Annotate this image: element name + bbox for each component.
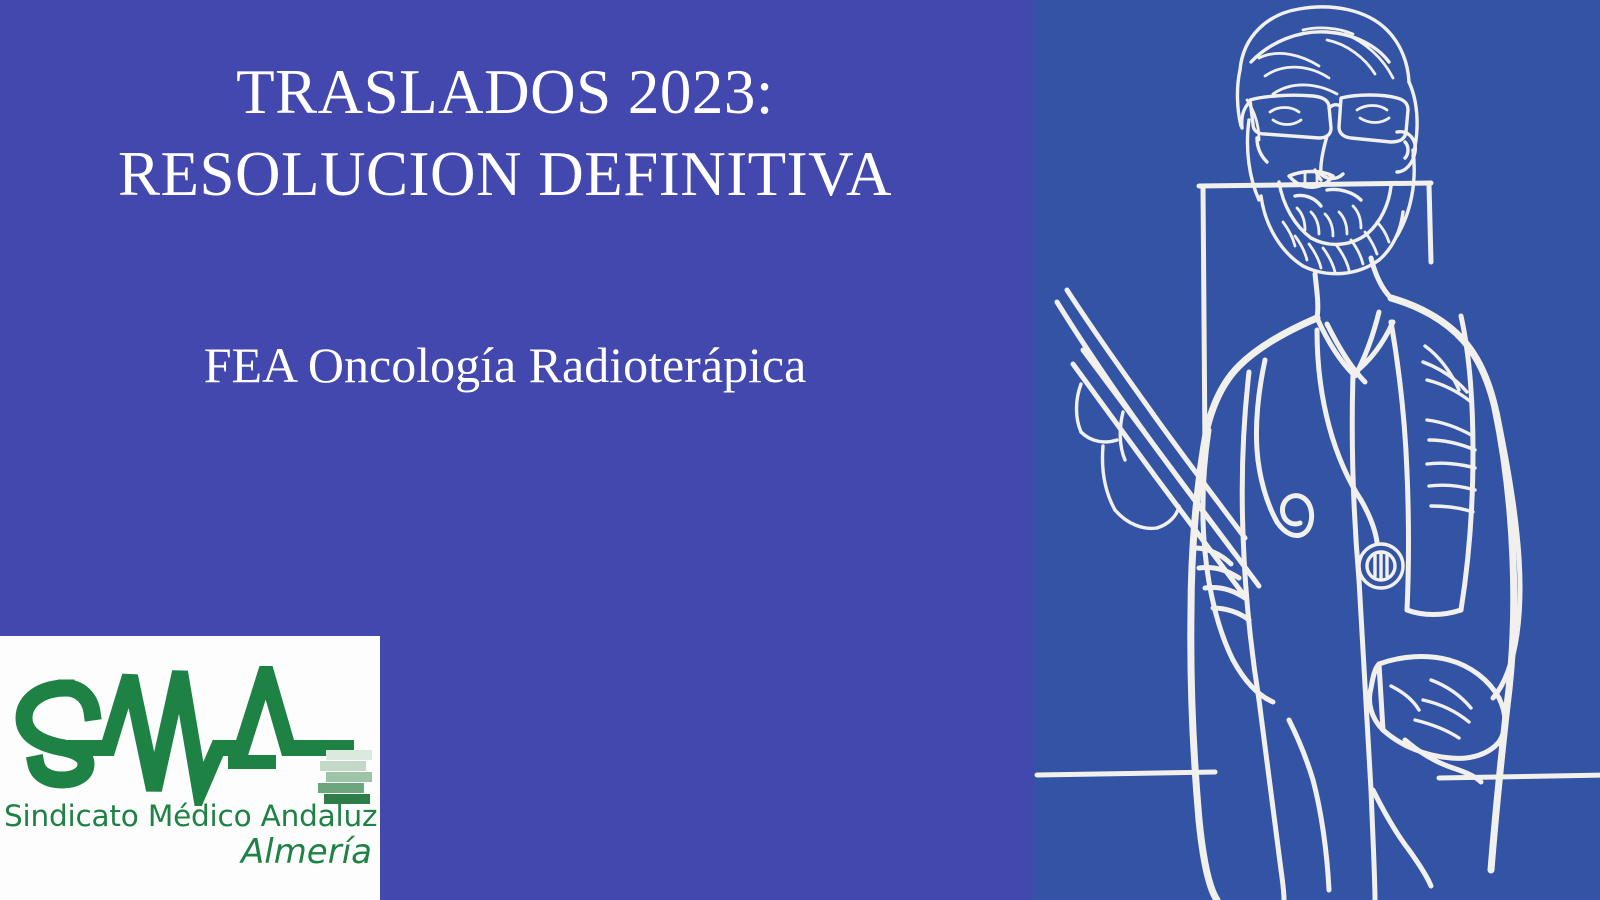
doctor-line-art-illustration xyxy=(1033,0,1600,900)
clipboard xyxy=(1057,290,1259,594)
logo-organization-name: Sindicato Médico Andaluz xyxy=(4,799,376,833)
right-illustration-panel xyxy=(1033,0,1600,900)
stacked-pages-icon xyxy=(318,750,372,804)
presentation-slide: TRASLADOS 2023: RESOLUCION DEFINITIVA FE… xyxy=(0,0,1600,900)
sma-logo: Sindicato Médico Andaluz Almería xyxy=(0,636,380,900)
slide-subtitle: FEA Oncología Radioterápica xyxy=(0,335,1010,395)
stethoscope-chestpiece xyxy=(1359,544,1403,588)
sma-logo-card: Sindicato Médico Andaluz Almería xyxy=(0,636,380,900)
neck-and-shoulders xyxy=(1315,258,1391,318)
sma-ecg-logo-icon xyxy=(4,666,376,806)
title-line-1: TRASLADOS 2023: xyxy=(20,52,990,134)
open-palm-hand xyxy=(1370,657,1506,759)
logo-province-name: Almería xyxy=(4,832,376,872)
stethoscope xyxy=(1256,330,1377,542)
scrub-top xyxy=(1242,372,1284,900)
glasses xyxy=(1242,95,1408,162)
title-line-2: RESOLUCION DEFINITIVA xyxy=(20,134,990,216)
lower-body xyxy=(1289,720,1481,890)
subtitle-line-1: FEA Oncología Radioterápica xyxy=(20,335,990,395)
slide-title: TRASLADOS 2023: RESOLUCION DEFINITIVA xyxy=(0,52,1010,216)
counter-edge xyxy=(1037,772,1600,778)
